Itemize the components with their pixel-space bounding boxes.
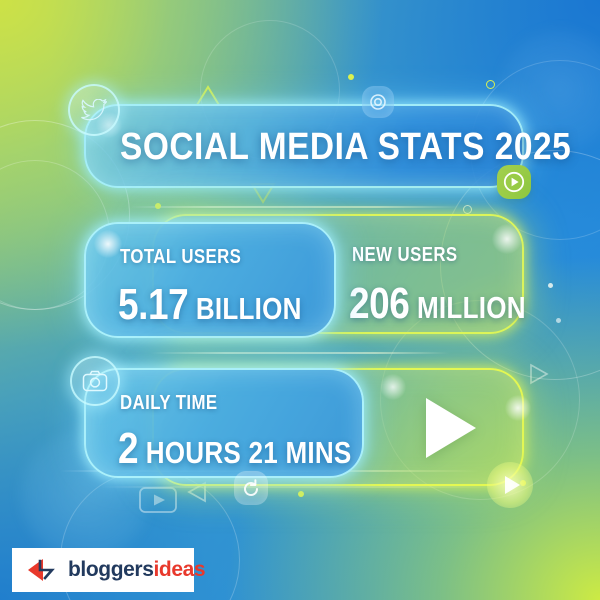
logo-wordmark: bloggersideas	[68, 558, 205, 582]
decor-dot-4	[548, 283, 553, 288]
decor-dot-3	[298, 491, 304, 497]
new-users-label: NEW USERS	[352, 244, 458, 267]
infographic-canvas: SOCIAL MEDIA STATS 2025 NEW USERS 206MIL…	[0, 0, 600, 600]
record-icon	[362, 86, 394, 118]
play-icon-small	[487, 462, 533, 508]
media-play-card-glow-right	[505, 395, 531, 421]
logo-mark-icon	[26, 556, 60, 584]
play-icon-large	[426, 398, 476, 458]
play-icon-badge	[497, 165, 531, 199]
new-users-unit: MILLION	[417, 290, 526, 325]
total-users-card-glow	[94, 230, 122, 258]
decor-dot-7	[463, 205, 472, 214]
camera-icon	[70, 356, 120, 406]
daily-time-label: DAILY TIME	[120, 392, 218, 415]
total-users-unit: BILLION	[196, 291, 302, 326]
decor-dot-1	[155, 203, 161, 209]
total-users-value: 5.17BILLION	[118, 280, 302, 330]
decor-line-1	[130, 206, 460, 208]
daily-time-value: 2HOURS 21 MINS	[118, 424, 352, 474]
youtube-icon	[139, 487, 177, 518]
new-users-card-glow	[492, 224, 522, 254]
decor-dot-8	[486, 80, 495, 89]
media-play-card-glow-left	[380, 374, 406, 400]
refresh-icon	[234, 471, 268, 505]
twitter-icon	[68, 84, 120, 136]
logo-text-primary: bloggers	[68, 558, 153, 581]
decor-line-2	[150, 352, 450, 354]
triangle-icon-outline-right	[527, 362, 551, 391]
logo-text-accent: ideas	[153, 558, 205, 581]
play-icon-small-triangle	[505, 476, 520, 494]
total-users-label: TOTAL USERS	[120, 246, 241, 269]
decor-dot-5	[556, 318, 561, 323]
daily-time-number: 2	[118, 424, 138, 473]
page-title: SOCIAL MEDIA STATS 2025	[120, 126, 571, 169]
total-users-number: 5.17	[118, 280, 188, 329]
decor-dot-2	[348, 74, 354, 80]
new-users-number: 206	[349, 279, 409, 328]
daily-time-unit: HOURS 21 MINS	[146, 435, 352, 470]
bloggersideas-logo[interactable]: bloggersideas	[12, 548, 194, 592]
triangle-icon-up	[197, 85, 219, 103]
new-users-value: 206MILLION	[349, 279, 526, 329]
decor-line-4	[100, 486, 500, 488]
